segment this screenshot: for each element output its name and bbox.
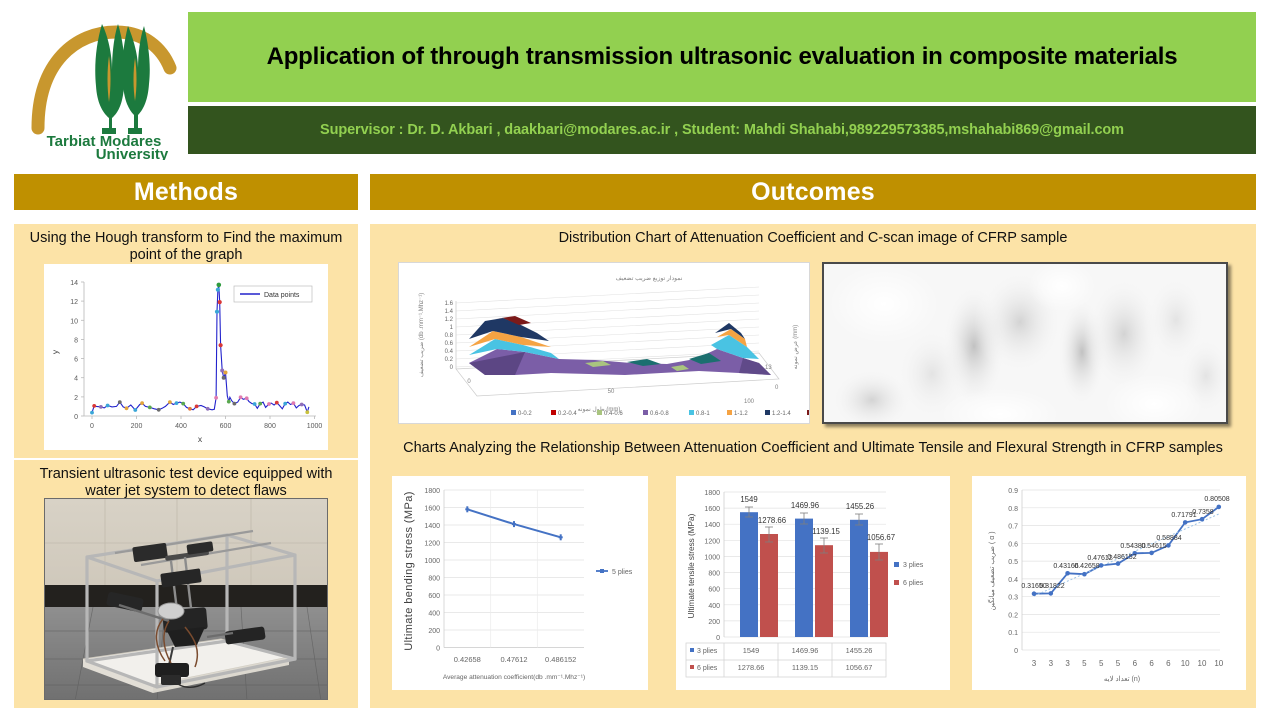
svg-text:800: 800 bbox=[428, 576, 440, 583]
surface-chart-title: نمودار توزیع ضریب تضعیف bbox=[616, 275, 683, 282]
svg-text:6 plies: 6 plies bbox=[697, 665, 718, 672]
tensile-legend-6plies: 6 plies bbox=[903, 580, 924, 587]
authors-bar: Supervisor : Dr. D. Akbari , daakbari@mo… bbox=[188, 106, 1256, 154]
svg-text:0: 0 bbox=[1014, 648, 1018, 655]
svg-text:0.8: 0.8 bbox=[445, 333, 454, 339]
tensile-y-axis-label: Ultimate tensile stress (MPa) bbox=[687, 513, 696, 618]
svg-text:12: 12 bbox=[70, 299, 78, 306]
svg-text:1056.67: 1056.67 bbox=[867, 533, 895, 542]
svg-text:6: 6 bbox=[1166, 659, 1171, 668]
svg-text:1278.66: 1278.66 bbox=[758, 516, 786, 525]
svg-text:0.6: 0.6 bbox=[1008, 541, 1018, 548]
svg-text:1800: 1800 bbox=[704, 490, 720, 497]
svg-text:1455.26: 1455.26 bbox=[846, 646, 873, 655]
svg-text:0.42658: 0.42658 bbox=[454, 655, 481, 664]
authors-text: Supervisor : Dr. D. Akbari , daakbari@mo… bbox=[320, 122, 1124, 138]
svg-text:1139.15: 1139.15 bbox=[792, 663, 818, 672]
svg-text:0.486152: 0.486152 bbox=[545, 655, 576, 664]
svg-text:1000: 1000 bbox=[307, 423, 323, 430]
svg-text:0.4: 0.4 bbox=[445, 349, 454, 355]
bending-legend-label: 5 plies bbox=[612, 569, 633, 576]
svg-text:10: 10 bbox=[1214, 659, 1223, 668]
svg-text:0.58884: 0.58884 bbox=[1156, 535, 1181, 542]
svg-text:0.7: 0.7 bbox=[1008, 524, 1018, 531]
svg-text:0: 0 bbox=[716, 635, 720, 642]
bending-y-axis-label: Ultimate bending stress (MPa) bbox=[403, 491, 415, 651]
surface-z-axis-label: ضریب تضعیف (db .mm⁻¹.Mhz⁻¹) bbox=[419, 293, 425, 377]
svg-text:1600: 1600 bbox=[704, 506, 720, 513]
tensile-legend-3plies: 3 plies bbox=[903, 562, 924, 569]
svg-text:1.6: 1.6 bbox=[445, 301, 454, 307]
svg-text:10: 10 bbox=[70, 318, 78, 325]
tensile-stress-chart: 18001600 14001200 1000800 600400 2000 bbox=[676, 476, 950, 690]
svg-text:1455.26: 1455.26 bbox=[846, 502, 874, 511]
svg-text:3: 3 bbox=[1049, 659, 1054, 668]
svg-text:5: 5 bbox=[1099, 659, 1104, 668]
svg-text:0.42658: 0.42658 bbox=[1074, 563, 1099, 570]
svg-text:1000: 1000 bbox=[424, 558, 440, 565]
svg-text:0.2: 0.2 bbox=[1008, 612, 1018, 619]
svg-text:0: 0 bbox=[436, 646, 440, 653]
outcomes-caption-1: Distribution Chart of Attenuation Coeffi… bbox=[370, 224, 1256, 251]
cscan-image bbox=[822, 262, 1228, 424]
svg-text:600: 600 bbox=[708, 587, 720, 594]
svg-text:2: 2 bbox=[74, 395, 78, 402]
svg-text:1200: 1200 bbox=[704, 538, 720, 545]
svg-text:0: 0 bbox=[90, 423, 94, 430]
svg-text:800: 800 bbox=[264, 423, 276, 430]
svg-text:0: 0 bbox=[74, 414, 78, 421]
svg-text:3: 3 bbox=[1032, 659, 1037, 668]
svg-text:1000: 1000 bbox=[704, 554, 720, 561]
svg-text:0.1: 0.1 bbox=[1008, 630, 1018, 637]
svg-text:0.54615: 0.54615 bbox=[1141, 543, 1166, 550]
svg-text:8: 8 bbox=[74, 337, 78, 344]
svg-text:600: 600 bbox=[428, 593, 440, 600]
svg-text:100: 100 bbox=[744, 399, 755, 405]
methods-caption-1: Using the Hough transform to Find the ma… bbox=[14, 224, 358, 268]
attenuation-vs-plies-chart: 0.90.8 0.70.6 0.50.4 0.30.2 0.10 0.31650… bbox=[972, 476, 1246, 690]
plies-y-axis-label: ضریب تضعیف میانگین ( α ) bbox=[987, 531, 996, 610]
svg-text:1.2-1.4: 1.2-1.4 bbox=[772, 411, 791, 417]
svg-text:0.6-0.8: 0.6-0.8 bbox=[650, 411, 669, 417]
svg-text:13: 13 bbox=[765, 365, 772, 371]
svg-text:1-1.2: 1-1.2 bbox=[734, 411, 748, 417]
hough-transform-chart: 1412 108 64 20 0200 400600 8001000 bbox=[44, 264, 328, 450]
svg-text:400: 400 bbox=[175, 423, 187, 430]
svg-text:5: 5 bbox=[1116, 659, 1121, 668]
svg-text:10: 10 bbox=[1198, 659, 1207, 668]
svg-text:1549: 1549 bbox=[740, 495, 757, 504]
svg-text:800: 800 bbox=[708, 571, 720, 578]
svg-text:600: 600 bbox=[220, 423, 232, 430]
svg-text:1056.67: 1056.67 bbox=[846, 663, 873, 672]
svg-text:0.4-0.6: 0.4-0.6 bbox=[604, 411, 623, 417]
bending-stress-chart: 18001600 14001200 1000800 600400 2000 0.… bbox=[392, 476, 648, 690]
svg-text:6: 6 bbox=[74, 357, 78, 364]
plies-x-axis-label: تعداد لایه (n) bbox=[1104, 675, 1140, 683]
svg-text:0.8-1: 0.8-1 bbox=[696, 411, 710, 417]
svg-text:200: 200 bbox=[708, 619, 720, 626]
svg-text:0.5: 0.5 bbox=[1008, 559, 1018, 566]
university-logo: Tarbiat Modares University bbox=[24, 10, 184, 160]
svg-text:4: 4 bbox=[74, 376, 78, 383]
svg-text:0.9: 0.9 bbox=[1008, 488, 1018, 495]
svg-text:6: 6 bbox=[1133, 659, 1138, 668]
svg-text:1.4: 1.4 bbox=[445, 309, 454, 315]
svg-text:1469.96: 1469.96 bbox=[791, 501, 819, 510]
svg-text:3 plies: 3 plies bbox=[697, 648, 718, 655]
section-title-methods: Methods bbox=[134, 178, 238, 207]
svg-text:400: 400 bbox=[708, 603, 720, 610]
svg-text:1278.66: 1278.66 bbox=[738, 663, 765, 672]
svg-text:0.7358: 0.7358 bbox=[1192, 509, 1214, 516]
surface-depth-axis-label: عرض نمونه (mm) bbox=[793, 325, 799, 370]
svg-text:200: 200 bbox=[428, 628, 440, 635]
svg-text:6: 6 bbox=[1149, 659, 1154, 668]
svg-text:10: 10 bbox=[1181, 659, 1190, 668]
svg-text:1549: 1549 bbox=[743, 646, 759, 655]
logo-line-2: University bbox=[96, 146, 169, 160]
svg-text:1.2: 1.2 bbox=[445, 317, 454, 323]
svg-text:0.80508: 0.80508 bbox=[1204, 496, 1229, 503]
svg-text:5: 5 bbox=[1082, 659, 1087, 668]
section-header-outcomes: Outcomes bbox=[370, 174, 1256, 210]
svg-text:0.2: 0.2 bbox=[445, 357, 454, 363]
svg-text:1400: 1400 bbox=[424, 523, 440, 530]
svg-text:0.47612: 0.47612 bbox=[500, 655, 527, 664]
bending-x-axis-label: Average attenuation coefficient(db .mm⁻¹… bbox=[443, 674, 585, 681]
svg-text:3: 3 bbox=[1065, 659, 1070, 668]
svg-text:200: 200 bbox=[131, 423, 143, 430]
svg-text:0.486152: 0.486152 bbox=[1107, 554, 1136, 561]
section-title-outcomes: Outcomes bbox=[751, 178, 875, 207]
svg-text:0.31822: 0.31822 bbox=[1039, 583, 1064, 590]
svg-text:0.3: 0.3 bbox=[1008, 595, 1018, 602]
svg-text:50: 50 bbox=[608, 389, 615, 395]
svg-text:400: 400 bbox=[428, 611, 440, 618]
hough-legend: Data points bbox=[234, 286, 312, 302]
outcomes-caption-2: Charts Analyzing the Relationship Betwee… bbox=[370, 433, 1256, 461]
svg-text:1469.96: 1469.96 bbox=[792, 646, 819, 655]
svg-text:1200: 1200 bbox=[424, 541, 440, 548]
svg-text:0.6: 0.6 bbox=[445, 341, 454, 347]
svg-text:0.4: 0.4 bbox=[1008, 577, 1018, 584]
svg-text:0.2-0.4: 0.2-0.4 bbox=[558, 411, 577, 417]
page-title: Application of through transmission ultr… bbox=[267, 42, 1178, 71]
svg-text:1139.15: 1139.15 bbox=[812, 527, 840, 536]
poster-root: Tarbiat Modares University Application o… bbox=[0, 0, 1280, 720]
svg-text:0-0.2: 0-0.2 bbox=[518, 411, 532, 417]
poster-title-bar: Application of through transmission ultr… bbox=[188, 12, 1256, 102]
svg-text:1800: 1800 bbox=[424, 488, 440, 495]
hough-legend-label: Data points bbox=[264, 292, 300, 299]
attenuation-distribution-surface-chart: نمودار توزیع ضریب تضعیف 1.61.4 1.21 0.80… bbox=[398, 262, 810, 424]
svg-text:14: 14 bbox=[70, 280, 78, 287]
svg-text:0.8: 0.8 bbox=[1008, 506, 1018, 513]
section-header-methods: Methods bbox=[14, 174, 358, 210]
svg-text:1600: 1600 bbox=[424, 506, 440, 513]
svg-text:1400: 1400 bbox=[704, 522, 720, 529]
test-device-photo bbox=[44, 498, 328, 700]
